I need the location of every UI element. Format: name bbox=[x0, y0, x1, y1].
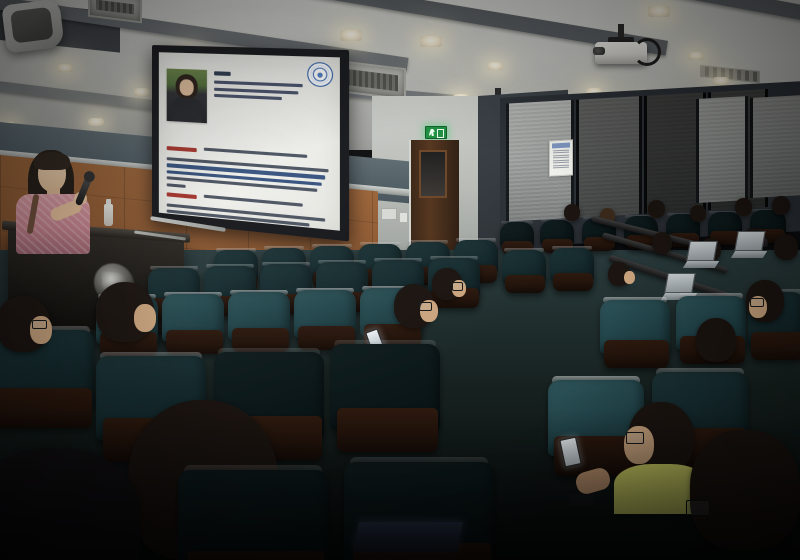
paragraph-heading bbox=[167, 192, 197, 198]
audience-member bbox=[772, 196, 790, 215]
speaker-portrait-photo bbox=[167, 69, 207, 124]
running-person-icon bbox=[429, 129, 435, 136]
seat[interactable] bbox=[162, 294, 224, 342]
wall-speaker-icon bbox=[1, 0, 64, 53]
audience-member bbox=[564, 204, 580, 221]
ceiling-downlight-icon bbox=[487, 62, 503, 70]
air-grille-icon bbox=[700, 65, 760, 83]
wall-switch-plate[interactable] bbox=[381, 208, 397, 220]
ceiling-downlight-icon bbox=[88, 118, 104, 126]
window-blind[interactable] bbox=[696, 96, 748, 203]
audience-member bbox=[0, 296, 50, 352]
audience-member bbox=[652, 232, 672, 254]
projection-screen bbox=[152, 45, 349, 241]
audience-member bbox=[696, 318, 736, 362]
wall-notice bbox=[549, 139, 573, 176]
seat[interactable] bbox=[540, 220, 574, 246]
ceiling-downlight-icon bbox=[57, 64, 73, 72]
seat[interactable] bbox=[502, 250, 546, 284]
ceiling-downlight-icon bbox=[713, 77, 729, 85]
ceiling-downlight-icon bbox=[134, 88, 150, 96]
screen-surface bbox=[159, 52, 340, 231]
audience-member-foreground bbox=[0, 448, 140, 560]
audience-member bbox=[774, 234, 798, 260]
seat[interactable] bbox=[600, 300, 670, 354]
audience-member bbox=[608, 262, 630, 286]
laptop[interactable] bbox=[353, 522, 463, 552]
audience-member bbox=[394, 284, 434, 328]
audience-member bbox=[648, 200, 665, 218]
window-blind[interactable] bbox=[750, 95, 800, 198]
audience-member bbox=[432, 268, 462, 300]
ceiling-downlight-icon bbox=[688, 52, 704, 60]
seat[interactable] bbox=[550, 248, 594, 282]
main-projector-icon bbox=[595, 40, 647, 62]
paragraph-heading bbox=[167, 146, 197, 152]
presenter-fringe bbox=[34, 152, 70, 170]
seat[interactable] bbox=[500, 222, 534, 248]
audience-member bbox=[690, 205, 706, 222]
wall-outlet[interactable] bbox=[399, 212, 408, 223]
audience-member bbox=[96, 282, 154, 342]
window-blind[interactable] bbox=[576, 96, 642, 218]
slide-speaker-name bbox=[214, 71, 231, 76]
door-icon bbox=[437, 129, 444, 138]
audience-member bbox=[746, 280, 784, 322]
seat[interactable] bbox=[178, 470, 328, 560]
ceiling-downlight-icon bbox=[340, 30, 362, 41]
side-door[interactable] bbox=[409, 140, 459, 252]
seat[interactable] bbox=[228, 292, 290, 340]
slide-bio-text bbox=[214, 80, 306, 105]
audience-member bbox=[628, 402, 694, 474]
ceiling-downlight-icon bbox=[648, 6, 670, 17]
audience-member-foreground bbox=[690, 430, 800, 550]
seat[interactable] bbox=[330, 344, 440, 430]
wristwatch bbox=[570, 494, 594, 506]
university-seal-logo bbox=[307, 62, 333, 88]
audience-member bbox=[735, 198, 752, 216]
lecture-hall-photo bbox=[0, 0, 800, 560]
seat[interactable] bbox=[294, 290, 356, 338]
door-window bbox=[419, 150, 447, 198]
presentation-slide bbox=[159, 52, 340, 231]
ceiling-downlight-icon bbox=[420, 36, 442, 47]
presenter bbox=[14, 148, 110, 250]
exit-sign bbox=[425, 126, 447, 139]
